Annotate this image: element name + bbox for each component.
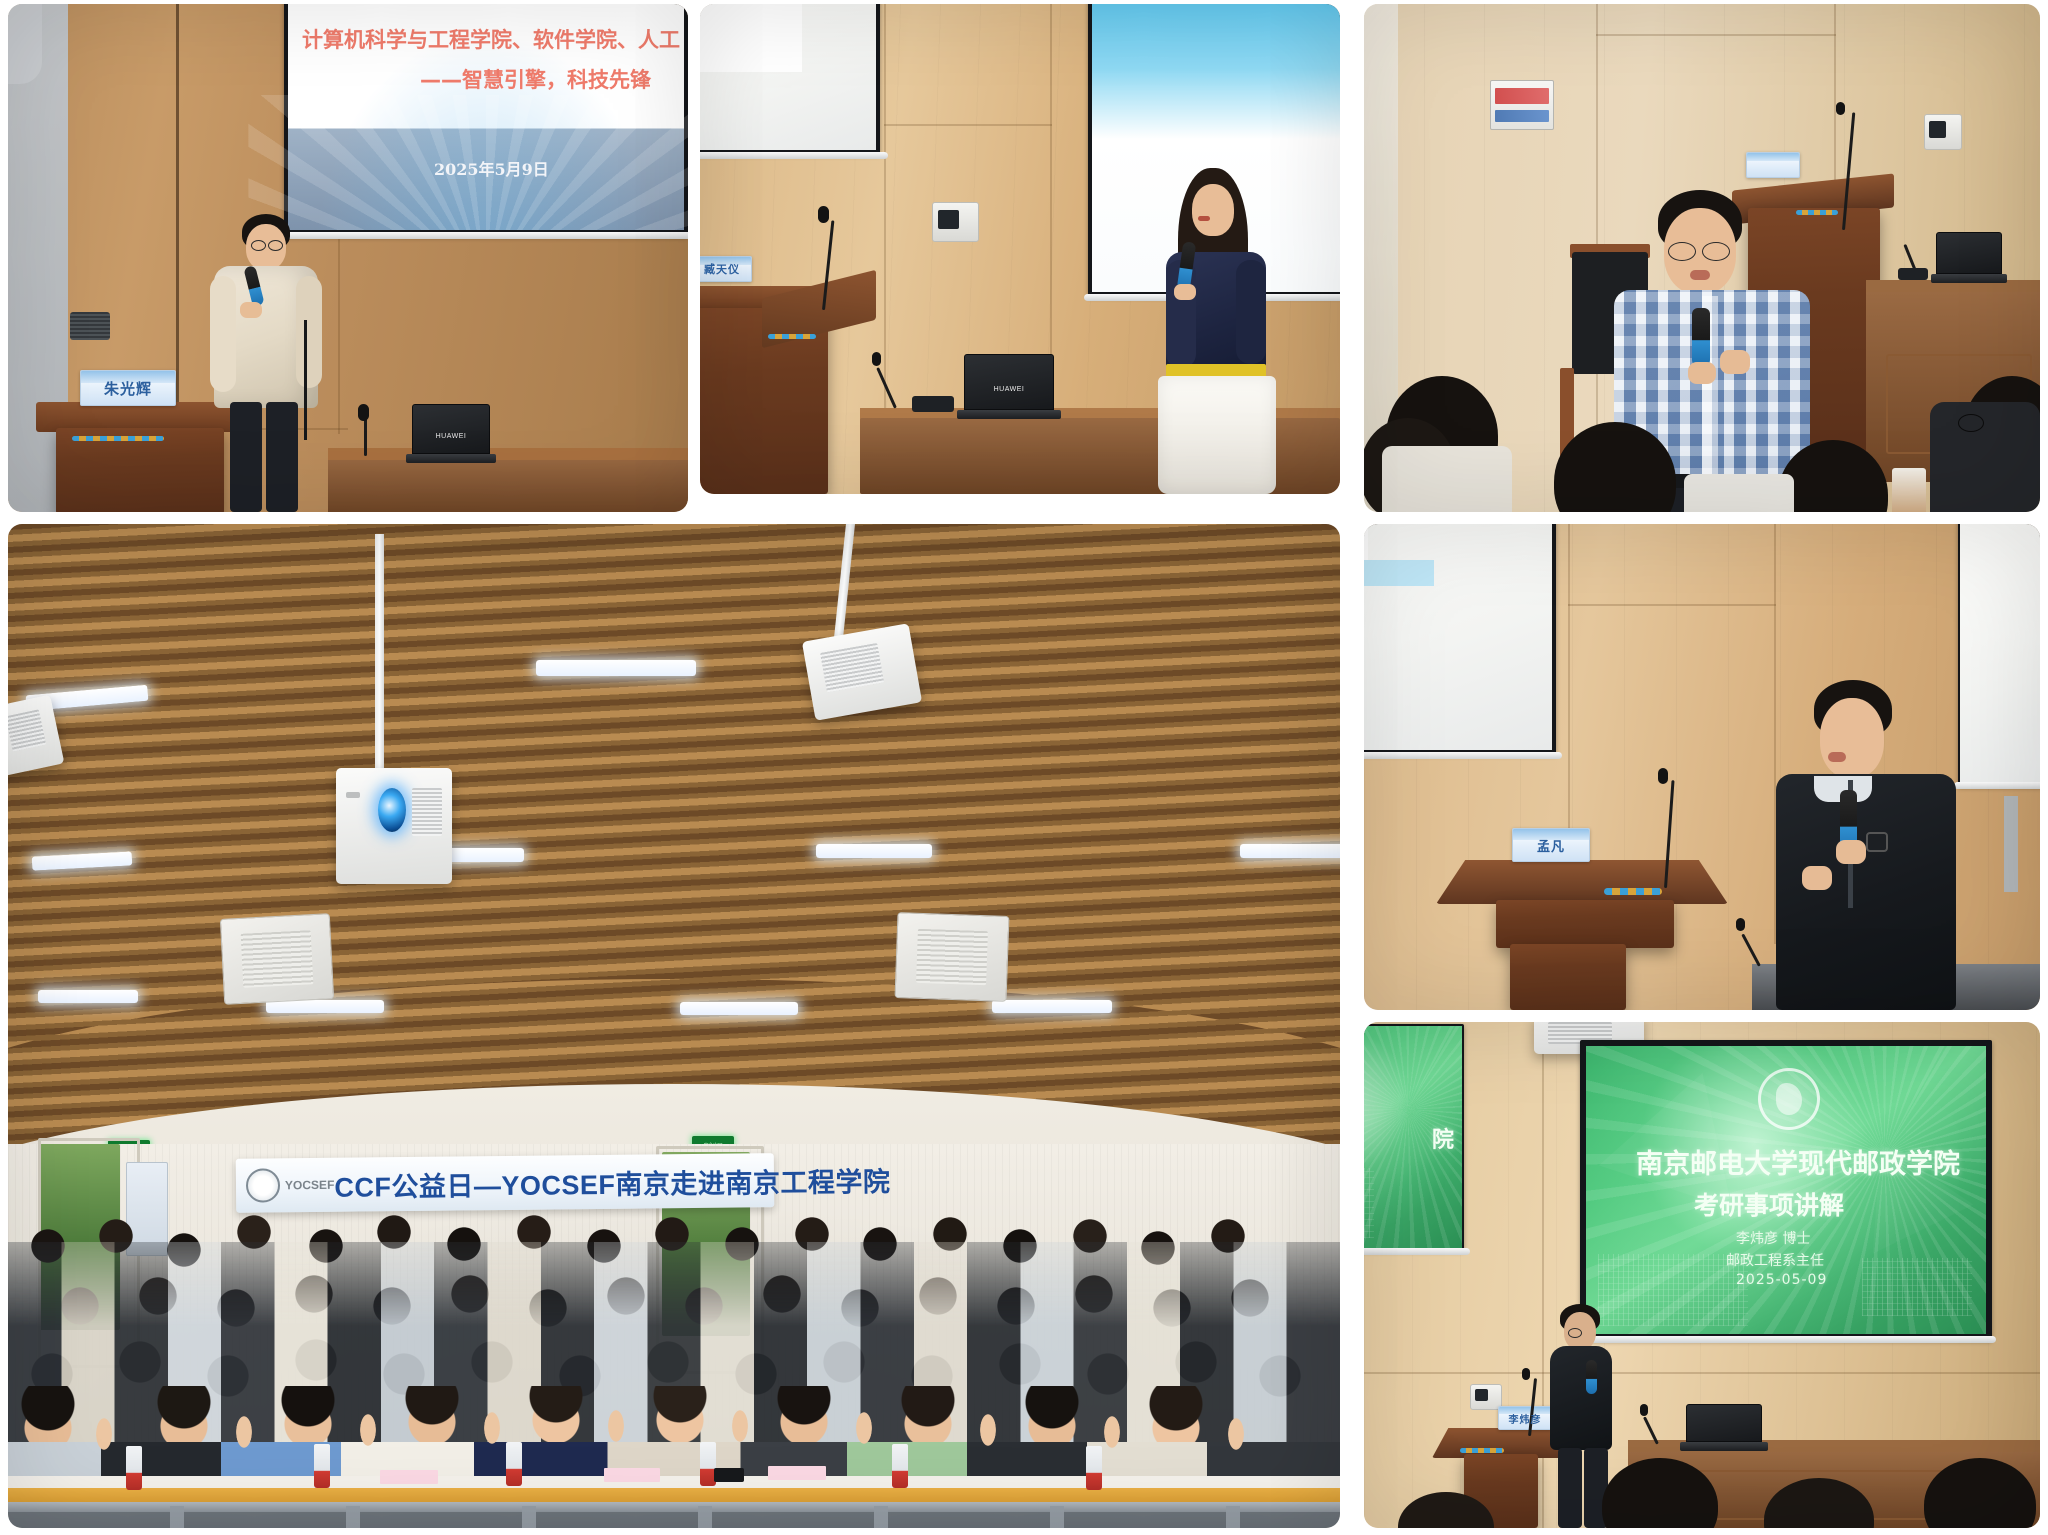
photo-top-left: 计算机科学与工程学院、软件学院、人工 ——智慧引擎，科技先锋 2025年5月9日… [8,4,688,512]
laptop: HUAWEI [964,354,1054,410]
podium-nameplate: 朱光辉 [80,370,176,406]
wall-thermostat[interactable] [1470,1384,1502,1410]
photo-middle-right: 孟凡 HUAWEI [1364,524,2040,1010]
green-slide-date: 2025-05-09 [1736,1272,1827,1288]
podium-nameplate: 臧天仪 [700,256,752,282]
left-screen-partial-text: 院 [1432,1122,1454,1154]
banner-logo-label: YOCSEF [285,1178,334,1191]
nameplate-text: 臧天仪 [704,261,740,277]
ceiling-ac-vent [895,912,1010,1002]
slide-date: 2025年5月9日 [434,156,549,180]
wall-thermostat[interactable] [1924,114,1962,150]
photo-bottom-right: 院 南京邮电大学现代邮政学院 考研事项讲解 李炜彦 博士 邮政工程系主任 202… [1364,1022,2040,1528]
green-slide-sub-1: 李炜彦 博士 [1736,1228,1810,1248]
projection-slide-green: 南京邮电大学现代邮政学院 考研事项讲解 李炜彦 博士 邮政工程系主任 2025-… [1586,1046,1986,1334]
speaker-person [1152,168,1302,494]
laptop [1686,1404,1762,1442]
speaker-person [204,214,334,512]
presenter-desk [328,456,688,512]
green-slide-title-2: 考研事项讲解 [1694,1186,1844,1222]
speaker-person [1784,680,1980,1010]
wall-speaker [70,312,110,340]
laptop: HUAWEI [412,404,490,454]
nameplate-text: 朱光辉 [104,378,152,399]
ceiling-ac-vent [220,913,334,1005]
green-slide-title-1: 南京邮电大学现代邮政学院 [1636,1142,1960,1181]
ceiling-projector [336,768,452,884]
projection-slide: 计算机科学与工程学院、软件学院、人工 ——智慧引擎，科技先锋 2025年5月9日 [288,4,684,230]
university-emblem-icon [1758,1068,1820,1130]
photo-top-middle: 臧天仪 HUAWEI [700,4,1340,494]
photo-main-group: 安全出口 安全出口 YOCSEF CCF公益日—YOCSEF南京走进南京工程学院 [8,524,1340,1528]
nameplate-text: 李炜彦 [1509,1411,1542,1426]
podium-nameplate: 孟凡 [1512,828,1590,862]
slide-title-line2: ——智慧引擎，科技先锋 [420,64,651,94]
slide-title-line1: 计算机科学与工程学院、软件学院、人工 [302,24,680,54]
nameplate-text: 孟凡 [1537,836,1565,855]
photo-collage: 计算机科学与工程学院、软件学院、人工 ——智慧引擎，科技先锋 2025年5月9日… [0,0,2048,1535]
black-jacket [1776,774,1956,1010]
wall-sign [1490,80,1554,130]
photo-top-right [1364,4,2040,512]
wall-control-panel[interactable] [932,202,979,242]
